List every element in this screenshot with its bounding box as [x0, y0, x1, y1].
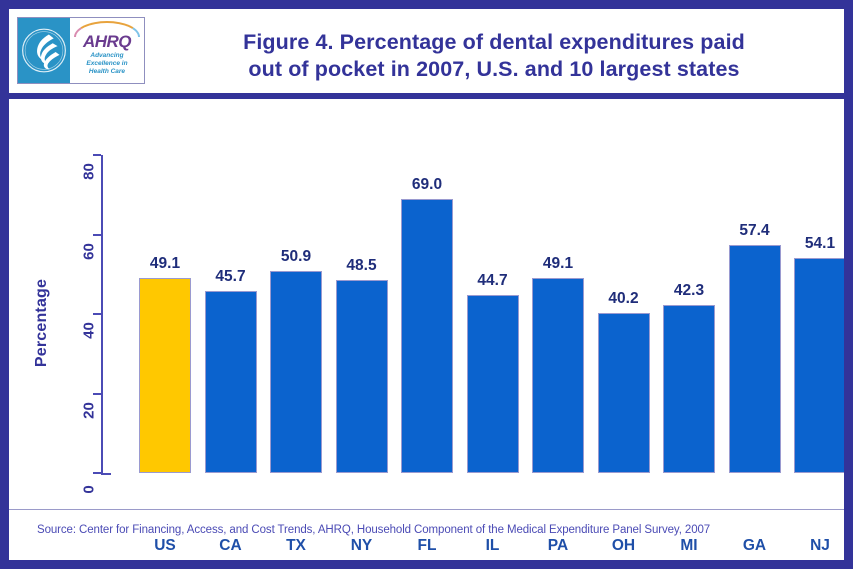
x-axis-label-ny: NY: [326, 537, 398, 555]
x-axis-label-ga: GA: [719, 537, 791, 555]
bar-value-label: 50.9: [260, 248, 332, 266]
bar-group: 42.3: [663, 155, 715, 473]
bar-group: 54.1: [794, 155, 846, 473]
bar-group: 45.7: [205, 155, 257, 473]
bar-ca[interactable]: [205, 291, 257, 473]
y-axis-tick-label: 80: [81, 155, 98, 189]
x-axis-label-mi: MI: [653, 537, 725, 555]
x-axis-label-il: IL: [457, 537, 529, 555]
x-axis-label-oh: OH: [588, 537, 660, 555]
y-axis-tick-label: 40: [81, 314, 98, 348]
bar-us[interactable]: [139, 278, 191, 473]
bar-group: 49.1: [139, 155, 191, 473]
y-axis-tick-label: 60: [81, 234, 98, 268]
y-axis-tick-label: 20: [81, 393, 98, 427]
plot-area: 49.1US45.7CA50.9TX48.5NY69.0FL44.7IL49.1…: [109, 155, 831, 473]
bar-ny[interactable]: [336, 280, 388, 473]
x-axis-label-us: US: [129, 537, 201, 555]
x-axis-label-nj: NJ: [784, 537, 853, 555]
x-axis-label-pa: PA: [522, 537, 594, 555]
ahrq-logo: AHRQ Advancing Excellence in Health Care: [17, 17, 145, 84]
footer-divider: [9, 509, 844, 510]
bar-value-label: 57.4: [719, 222, 791, 240]
ahrq-tagline: Advancing Excellence in Health Care: [86, 52, 127, 76]
bar-group: 48.5: [336, 155, 388, 473]
y-axis-line: 020406080: [101, 155, 103, 473]
ahrq-tagline-line3: Health Care: [86, 68, 127, 76]
bar-nj[interactable]: [794, 258, 846, 473]
bar-mi[interactable]: [663, 305, 715, 473]
figure-page: AHRQ Advancing Excellence in Health Care…: [0, 0, 853, 569]
bar-value-label: 49.1: [129, 255, 201, 273]
bar-group: 44.7: [467, 155, 519, 473]
bar-ga[interactable]: [729, 245, 781, 473]
source-note: Source: Center for Financing, Access, an…: [37, 524, 827, 536]
x-axis-label-tx: TX: [260, 537, 332, 555]
figure-title-line2: out of pocket in 2007, U.S. and 10 large…: [159, 56, 829, 83]
ahrq-tagline-line1: Advancing: [86, 52, 127, 60]
bar-value-label: 42.3: [653, 282, 725, 300]
bar-value-label: 49.1: [522, 255, 594, 273]
bar-value-label: 54.1: [784, 235, 853, 253]
y-axis-title: Percentage: [33, 263, 51, 383]
rainbow-arc-icon: [74, 21, 140, 37]
bar-group: 40.2: [598, 155, 650, 473]
bar-il[interactable]: [467, 295, 519, 473]
bar-group: 69.0: [401, 155, 453, 473]
bar-group: 50.9: [270, 155, 322, 473]
y-axis-tick-label: 0: [81, 473, 98, 507]
bar-pa[interactable]: [532, 278, 584, 473]
bar-value-label: 48.5: [326, 257, 398, 275]
figure-title: Figure 4. Percentage of dental expenditu…: [159, 29, 829, 83]
x-axis-baseline: [101, 473, 111, 475]
ahrq-tagline-line2: Excellence in: [86, 60, 127, 68]
bar-chart: Percentage 020406080 49.1US45.7CA50.9TX4…: [9, 99, 844, 520]
bar-value-label: 45.7: [195, 268, 267, 286]
x-axis-label-fl: FL: [391, 537, 463, 555]
bar-value-label: 44.7: [457, 272, 529, 290]
bar-oh[interactable]: [598, 313, 650, 473]
ahrq-wordmark-block: AHRQ Advancing Excellence in Health Care: [70, 18, 144, 83]
bar-group: 49.1: [532, 155, 584, 473]
bar-fl[interactable]: [401, 199, 453, 473]
hhs-seal-icon: [18, 18, 70, 83]
bar-tx[interactable]: [270, 271, 322, 473]
figure-title-line1: Figure 4. Percentage of dental expenditu…: [159, 29, 829, 56]
x-axis-label-ca: CA: [195, 537, 267, 555]
header: AHRQ Advancing Excellence in Health Care…: [9, 9, 844, 93]
bar-value-label: 69.0: [391, 176, 463, 194]
bar-value-label: 40.2: [588, 290, 660, 308]
bar-group: 57.4: [729, 155, 781, 473]
